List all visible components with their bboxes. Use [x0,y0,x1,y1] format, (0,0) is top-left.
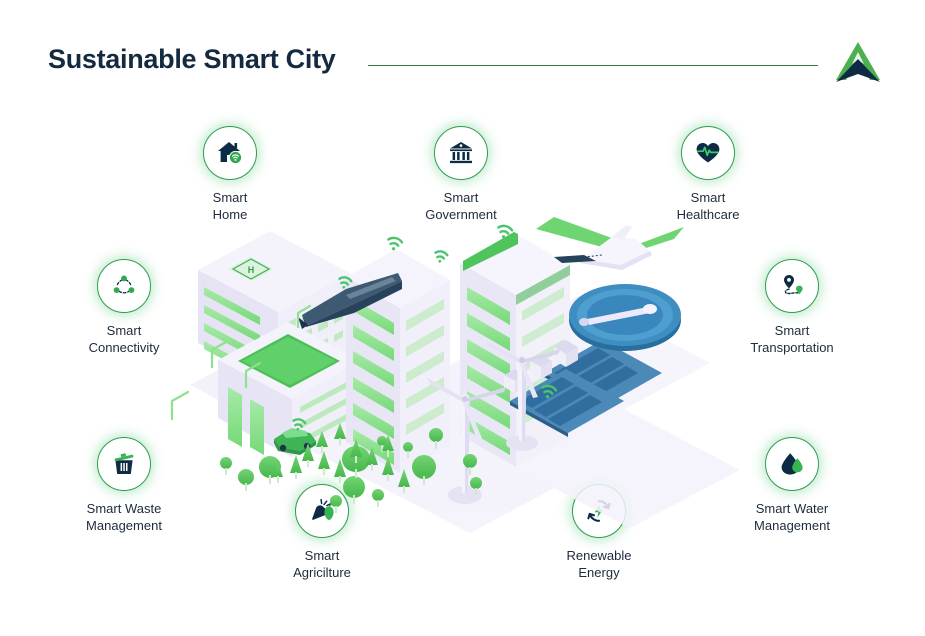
page-title: Sustainable Smart City [48,44,336,75]
header-divider [368,65,818,66]
arrow-mountain-logo [834,40,882,84]
trash-bin-icon [110,450,138,478]
wifi-icon [386,237,402,252]
header: Sustainable Smart City [48,44,878,88]
wifi-icon [434,250,448,264]
icon-circle[interactable] [434,126,488,180]
home-wifi-icon [216,139,244,167]
icon-circle[interactable] [97,259,151,313]
government-bank-icon [447,139,475,167]
helipad-letter: H [248,265,255,275]
isometric-smart-city-illustration: H [150,195,790,555]
infographic-canvas: Sustainable Smart City Smart Home [0,0,925,636]
icon-circle[interactable] [97,437,151,491]
network-share-icon [110,272,138,300]
icon-circle[interactable] [681,126,735,180]
heart-pulse-icon [694,139,722,167]
icon-circle[interactable] [203,126,257,180]
water-treatment-dish [569,284,681,351]
